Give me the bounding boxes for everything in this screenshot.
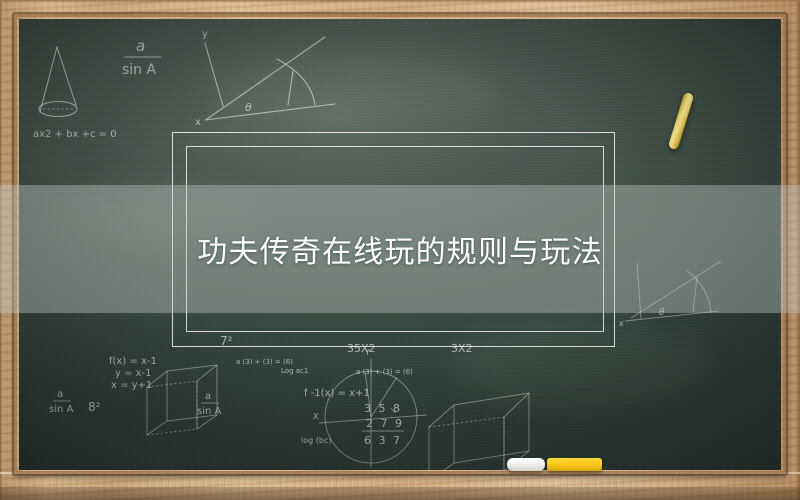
frame-edge-top — [0, 0, 800, 3]
yellow-chalk-piece-icon — [547, 458, 602, 471]
ledge-shadow — [0, 487, 800, 500]
white-chalk-piece-icon — [507, 458, 545, 471]
chalkboard-banner: a sin A y x θ ax2 + bx +c = 0 — [0, 0, 800, 500]
page-title: 功夫传奇在线玩的规则与玩法 — [0, 185, 800, 313]
